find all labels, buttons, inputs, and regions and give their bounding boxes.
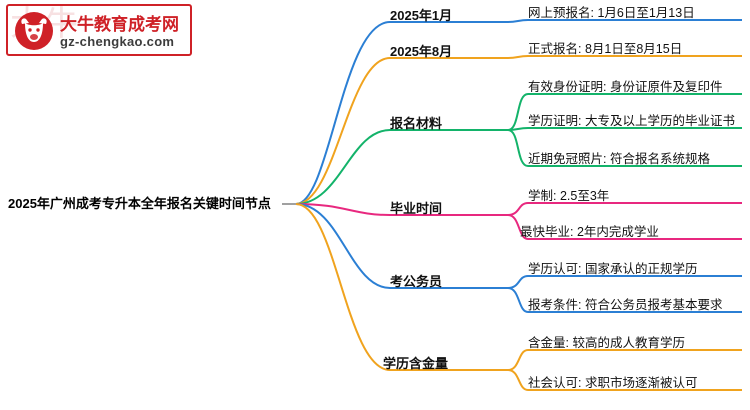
leaf-label-4-1[interactable]: 学制: 2.5至3年 bbox=[528, 189, 609, 204]
connector-leaf-6-2 bbox=[508, 370, 528, 390]
leaf-label-6-2[interactable]: 社会认可: 求职市场逐渐被认可 bbox=[528, 376, 697, 391]
leaf-label-2-1[interactable]: 正式报名: 8月1日至8月15日 bbox=[528, 42, 682, 57]
connector-branch-5 bbox=[296, 204, 390, 288]
bull-head-icon bbox=[12, 9, 56, 53]
connector-branch-4 bbox=[296, 204, 390, 215]
connector-leaf-5-2 bbox=[508, 288, 528, 312]
connector-leaf-1-1 bbox=[508, 20, 528, 22]
leaf-label-5-2[interactable]: 报考条件: 符合公务员报考基本要求 bbox=[528, 298, 722, 313]
connector-branch-2 bbox=[296, 58, 390, 204]
branch-label-5[interactable]: 考公务员 bbox=[390, 274, 442, 290]
leaf-label-3-2[interactable]: 学历证明: 大专及以上学历的毕业证书 bbox=[528, 114, 735, 129]
connector-branch-1 bbox=[296, 22, 390, 204]
branch-label-3[interactable]: 报名材料 bbox=[390, 116, 442, 132]
leaf-label-1-1[interactable]: 网上预报名: 1月6日至1月13日 bbox=[528, 6, 695, 21]
leaf-label-6-1[interactable]: 含金量: 较高的成人教育学历 bbox=[528, 336, 685, 351]
site-logo[interactable]: 大牛 大牛教育成考网 gz-chengkao.com bbox=[6, 4, 192, 56]
branch-label-4[interactable]: 毕业时间 bbox=[390, 201, 442, 217]
leaf-label-3-1[interactable]: 有效身份证明: 身份证原件及复印件 bbox=[528, 80, 722, 95]
connector-leaf-2-1 bbox=[508, 56, 528, 58]
mindmap-root-label: 2025年广州成考专升本全年报名关键时间节点 bbox=[8, 196, 271, 212]
connector-leaf-3-1 bbox=[508, 94, 528, 130]
logo-brand-url: gz-chengkao.com bbox=[60, 34, 174, 49]
connector-leaf-4-1 bbox=[508, 203, 528, 215]
logo-brand-name: 大牛教育成考网 bbox=[60, 10, 179, 35]
connector-branch-6 bbox=[296, 204, 390, 370]
leaf-label-4-2[interactable]: 最快毕业: 2年内完成学业 bbox=[520, 225, 659, 240]
connector-leaf-5-1 bbox=[508, 276, 528, 288]
connector-leaf-3-3 bbox=[508, 130, 528, 166]
branch-label-6[interactable]: 学历含金量 bbox=[383, 356, 448, 372]
leaf-label-5-1[interactable]: 学历认可: 国家承认的正规学历 bbox=[528, 262, 697, 277]
leaf-label-3-3[interactable]: 近期免冠照片: 符合报名系统规格 bbox=[528, 152, 710, 167]
branch-label-1[interactable]: 2025年1月 bbox=[390, 8, 452, 24]
connector-leaf-6-1 bbox=[508, 350, 528, 370]
branch-label-2[interactable]: 2025年8月 bbox=[390, 44, 452, 60]
